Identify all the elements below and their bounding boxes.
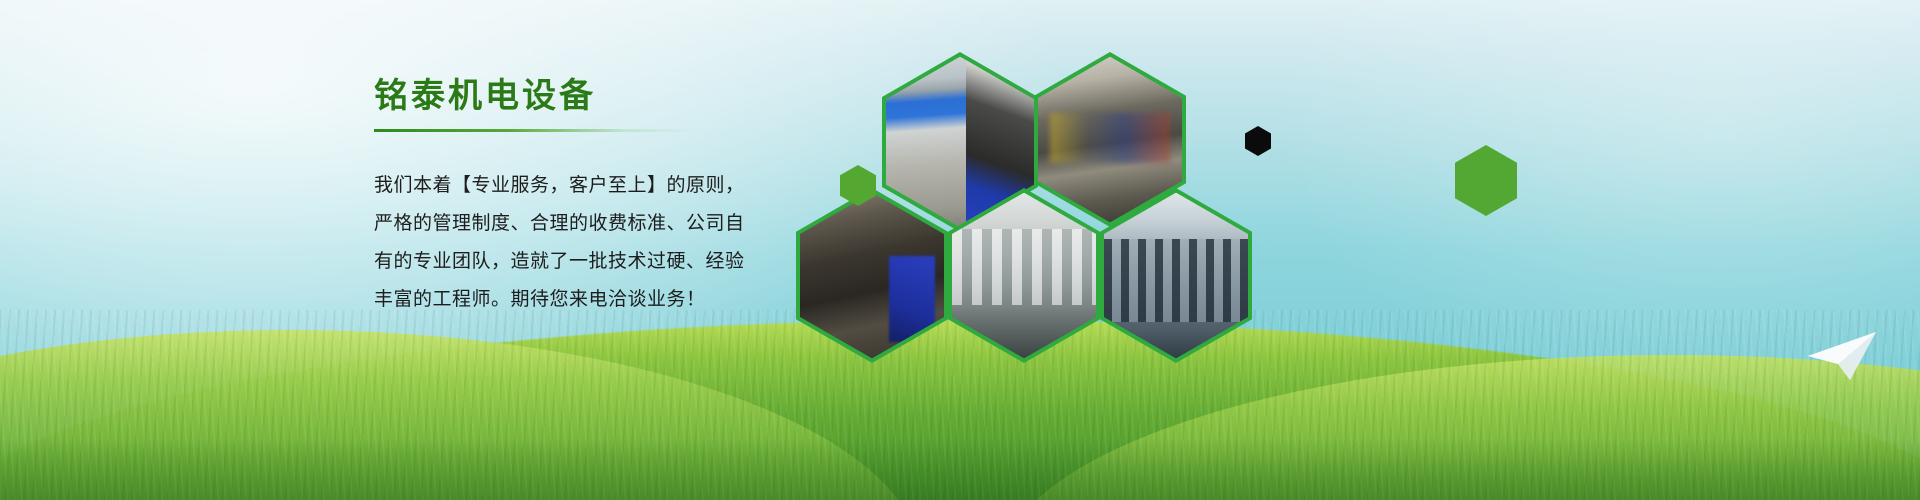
hex-photo-technician-image (800, 193, 944, 359)
description-line-1: 我们本着【专业服务，客户至上】的原则， (374, 166, 804, 204)
hex-photo-technician-inner (800, 193, 944, 359)
promo-banner: 铭泰机电设备 我们本着【专业服务，客户至上】的原则， 严格的管理制度、合理的收费… (0, 0, 1920, 500)
banner-description: 我们本着【专业服务，客户至上】的原则， 严格的管理制度、合理的收费标准、公司自 … (374, 166, 804, 318)
decorative-hexagon-green-large (1455, 145, 1517, 216)
paper-plane-icon (1806, 330, 1878, 382)
description-line-4: 丰富的工程师。期待您来电洽谈业务！ (374, 280, 804, 318)
hex-photo-air-handling-unit-image (952, 193, 1096, 359)
hex-photo-technician[interactable] (796, 188, 948, 363)
description-line-2: 严格的管理制度、合理的收费标准、公司自 (374, 204, 804, 242)
description-line-3: 有的专业团队，造就了一批技术过硬、经验 (374, 242, 804, 280)
hex-photo-air-handling-unit-inner (952, 193, 1096, 359)
banner-text-block: 铭泰机电设备 我们本着【专业服务，客户至上】的原则， 严格的管理制度、合理的收费… (374, 78, 804, 318)
hex-photo-outdoor-condensers-image (1104, 193, 1248, 359)
title-divider (374, 129, 694, 132)
hex-photo-outdoor-condensers-inner (1104, 193, 1248, 359)
hexagon-photo-gallery (790, 40, 1320, 380)
page-title: 铭泰机电设备 (374, 78, 804, 115)
